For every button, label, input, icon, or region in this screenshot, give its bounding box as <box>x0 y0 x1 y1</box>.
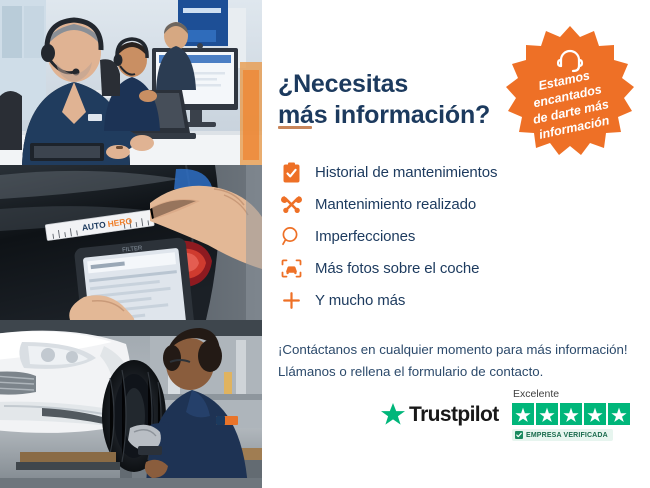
feature-item-maintenance-done: Mantenimiento realizado <box>276 188 636 220</box>
support-badge: Estamos encantados de darte más informac… <box>500 22 640 162</box>
trustpilot-star-rating <box>512 403 630 425</box>
rating-star <box>512 403 534 425</box>
title-underline-rule <box>278 126 312 129</box>
verified-check-icon <box>515 431 523 439</box>
crossed-tools-icon <box>276 191 306 217</box>
clipboard-check-icon <box>276 159 306 185</box>
feature-list: Historial de mantenimientos M <box>276 156 636 316</box>
plus-icon <box>276 287 306 313</box>
contact-copy-line-2: Llámanos o rellena el formulario de cont… <box>278 361 638 383</box>
rating-star <box>560 403 582 425</box>
verified-company-label: EMPRESA VERIFICADA <box>523 432 608 439</box>
verified-company-badge: EMPRESA VERIFICADA <box>512 429 613 441</box>
feature-item-more-photos: Más fotos sobre el coche <box>276 252 636 284</box>
car-camera-frame-icon <box>276 255 306 281</box>
call-center-agents-photo <box>0 0 262 165</box>
feature-label: Y mucho más <box>306 292 405 309</box>
rating-star <box>608 403 630 425</box>
contact-copy-line-1: ¡Contáctanos en cualquier momento para m… <box>278 339 638 361</box>
feature-item-imperfections: Imperfecciones <box>276 220 636 252</box>
trustpilot-logo: Trustpilot <box>380 402 499 427</box>
page-title-line-2: más información? <box>278 100 528 132</box>
trustpilot-block: Trustpilot Excelente <box>380 388 650 450</box>
feature-label: Mantenimiento realizado <box>306 196 476 213</box>
page-title-line-1: ¿Necesitas <box>278 69 528 101</box>
feature-label: Imperfecciones <box>306 228 415 245</box>
feature-label: Más fotos sobre el coche <box>306 260 479 277</box>
photo-column: AUTO HERO <box>0 0 262 488</box>
magnifier-icon <box>276 223 306 249</box>
feature-item-maintenance-history: Historial de mantenimientos <box>276 156 636 188</box>
contact-copy: ¡Contáctanos en cualquier momento para m… <box>278 339 638 383</box>
car-inspection-photo: AUTO HERO <box>0 165 262 320</box>
trustpilot-rating-label: Excelente <box>512 388 630 400</box>
page-title: ¿Necesitas más información? <box>278 69 528 132</box>
feature-label: Historial de mantenimientos <box>306 164 497 181</box>
rating-star <box>536 403 558 425</box>
content-panel: ¿Necesitas más información? Estamos <box>262 0 650 488</box>
information-banner: AUTO HERO <box>0 0 650 488</box>
feature-item-much-more: Y mucho más <box>276 284 636 316</box>
tire-service-photo <box>0 320 262 488</box>
trustpilot-wordmark: Trustpilot <box>406 403 499 427</box>
trustpilot-rating: Excelente <box>512 388 630 444</box>
rating-star <box>584 403 606 425</box>
trustpilot-star-icon <box>380 402 406 427</box>
